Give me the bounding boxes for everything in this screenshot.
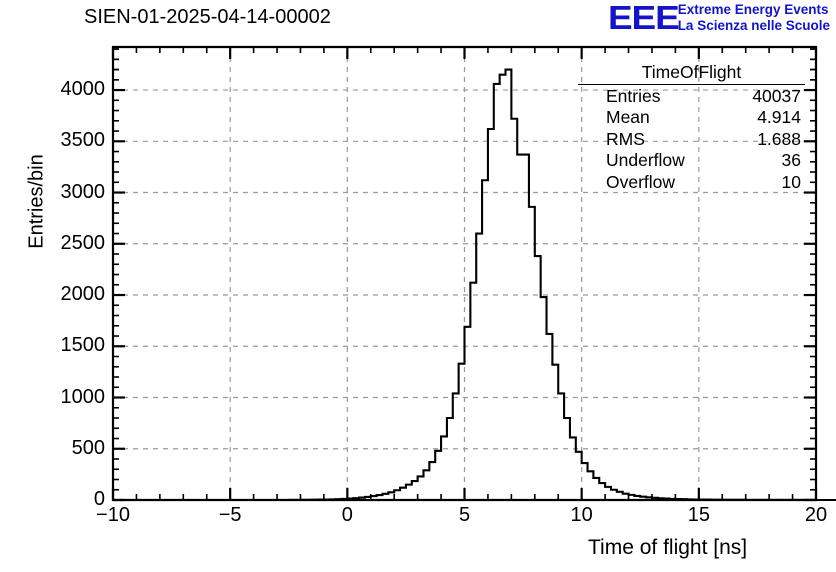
stats-row-value: 10 [782, 172, 801, 193]
stats-row-value: 40037 [752, 86, 801, 107]
stats-row-key: Entries [606, 86, 660, 107]
stats-box: TimeOfFlight Entries40037Mean4.914RMS1.6… [578, 62, 805, 193]
stats-row: Mean4.914 [578, 107, 805, 128]
eee-logo-mark: EEE [608, 1, 679, 34]
stats-row-key: Underflow [606, 150, 685, 171]
stats-row-value: 1.688 [757, 129, 801, 150]
y-tick-label: 4000 [5, 78, 105, 101]
y-tick-label: 3000 [5, 181, 105, 204]
stats-row: Entries40037 [578, 86, 805, 107]
stats-row: Overflow10 [578, 172, 805, 193]
eee-logo: EEE Extreme Energy Events La Scienza nel… [608, 1, 830, 34]
eee-logo-line1: Extreme Energy Events [678, 2, 830, 18]
root-canvas: SIEN-01-2025-04-14-00002 EEE Extreme Ene… [0, 0, 836, 572]
eee-logo-line2: La Scienza nelle Scuole [678, 18, 830, 34]
x-tick-label: 15 [688, 504, 710, 527]
stats-row-key: RMS [606, 129, 645, 150]
y-tick-label: 0 [5, 488, 105, 511]
stats-row-key: Mean [606, 107, 650, 128]
stats-row-key: Overflow [606, 172, 675, 193]
y-tick-label: 1500 [5, 334, 105, 357]
stats-row: Underflow36 [578, 150, 805, 171]
page-title: SIEN-01-2025-04-14-00002 [84, 6, 331, 29]
eee-logo-text: Extreme Energy Events La Scienza nelle S… [678, 2, 830, 33]
y-tick-label: 2500 [5, 232, 105, 255]
x-tick-label: 0 [342, 504, 353, 527]
x-tick-label: 20 [805, 504, 827, 527]
x-axis-title: Time of flight [ns] [588, 536, 747, 560]
stats-row: RMS1.688 [578, 129, 805, 150]
y-tick-label: 3500 [5, 129, 105, 152]
x-tick-label: 10 [571, 504, 593, 527]
x-tick-label: −5 [219, 504, 242, 527]
stats-row-value: 36 [782, 150, 801, 171]
stats-box-title: TimeOfFlight [578, 62, 805, 85]
x-tick-label: 5 [459, 504, 470, 527]
stats-box-rows: Entries40037Mean4.914RMS1.688Underflow36… [578, 86, 805, 193]
y-tick-label: 2000 [5, 283, 105, 306]
y-tick-label: 500 [5, 437, 105, 460]
stats-row-value: 4.914 [757, 107, 801, 128]
y-tick-label: 1000 [5, 386, 105, 409]
